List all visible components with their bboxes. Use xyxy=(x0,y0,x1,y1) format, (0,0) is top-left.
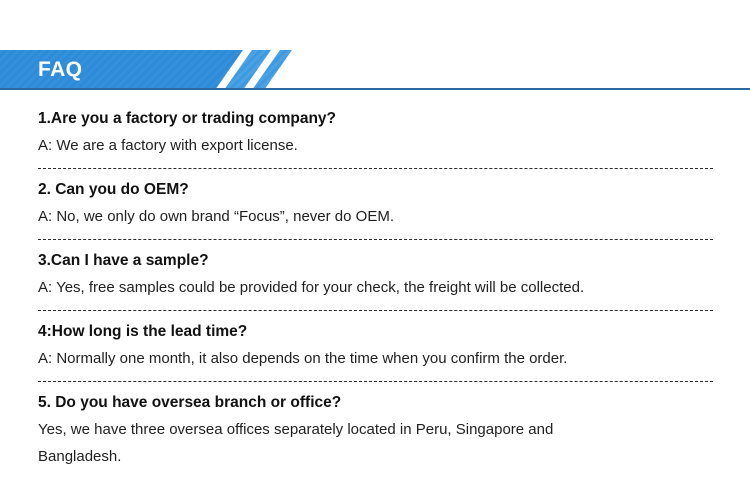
faq-separator xyxy=(38,168,713,169)
faq-question: 2. Can you do OEM? xyxy=(38,177,714,203)
faq-answer: A: No, we only do own brand “Focus”, nev… xyxy=(38,203,714,230)
faq-separator xyxy=(38,381,713,382)
faq-answer: A: Yes, free samples could be provided f… xyxy=(38,274,714,301)
faq-list: 1.Are you a factory or trading company? … xyxy=(38,106,714,470)
faq-item: 3.Can I have a sample? A: Yes, free samp… xyxy=(38,248,714,301)
faq-item: 1.Are you a factory or trading company? … xyxy=(38,106,714,159)
faq-separator xyxy=(38,239,713,240)
faq-question: 5. Do you have oversea branch or office? xyxy=(38,390,714,416)
faq-item: 2. Can you do OEM? A: No, we only do own… xyxy=(38,177,714,230)
faq-answer: A: We are a factory with export license. xyxy=(38,132,714,159)
faq-banner: FAQ xyxy=(0,50,750,91)
banner-main-block xyxy=(0,50,243,90)
banner-shape xyxy=(0,50,750,91)
faq-question: 4:How long is the lead time? xyxy=(38,319,714,345)
faq-answer: Yes, we have three oversea offices separ… xyxy=(38,416,638,470)
page-title: FAQ xyxy=(38,50,82,90)
faq-question: 1.Are you a factory or trading company? xyxy=(38,106,714,132)
banner-baseline-rule xyxy=(0,88,750,90)
faq-question: 3.Can I have a sample? xyxy=(38,248,714,274)
faq-answer: A: Normally one month, it also depends o… xyxy=(38,345,714,372)
faq-separator xyxy=(38,310,713,311)
faq-item: 4:How long is the lead time? A: Normally… xyxy=(38,319,714,372)
faq-item: 5. Do you have oversea branch or office?… xyxy=(38,390,714,470)
